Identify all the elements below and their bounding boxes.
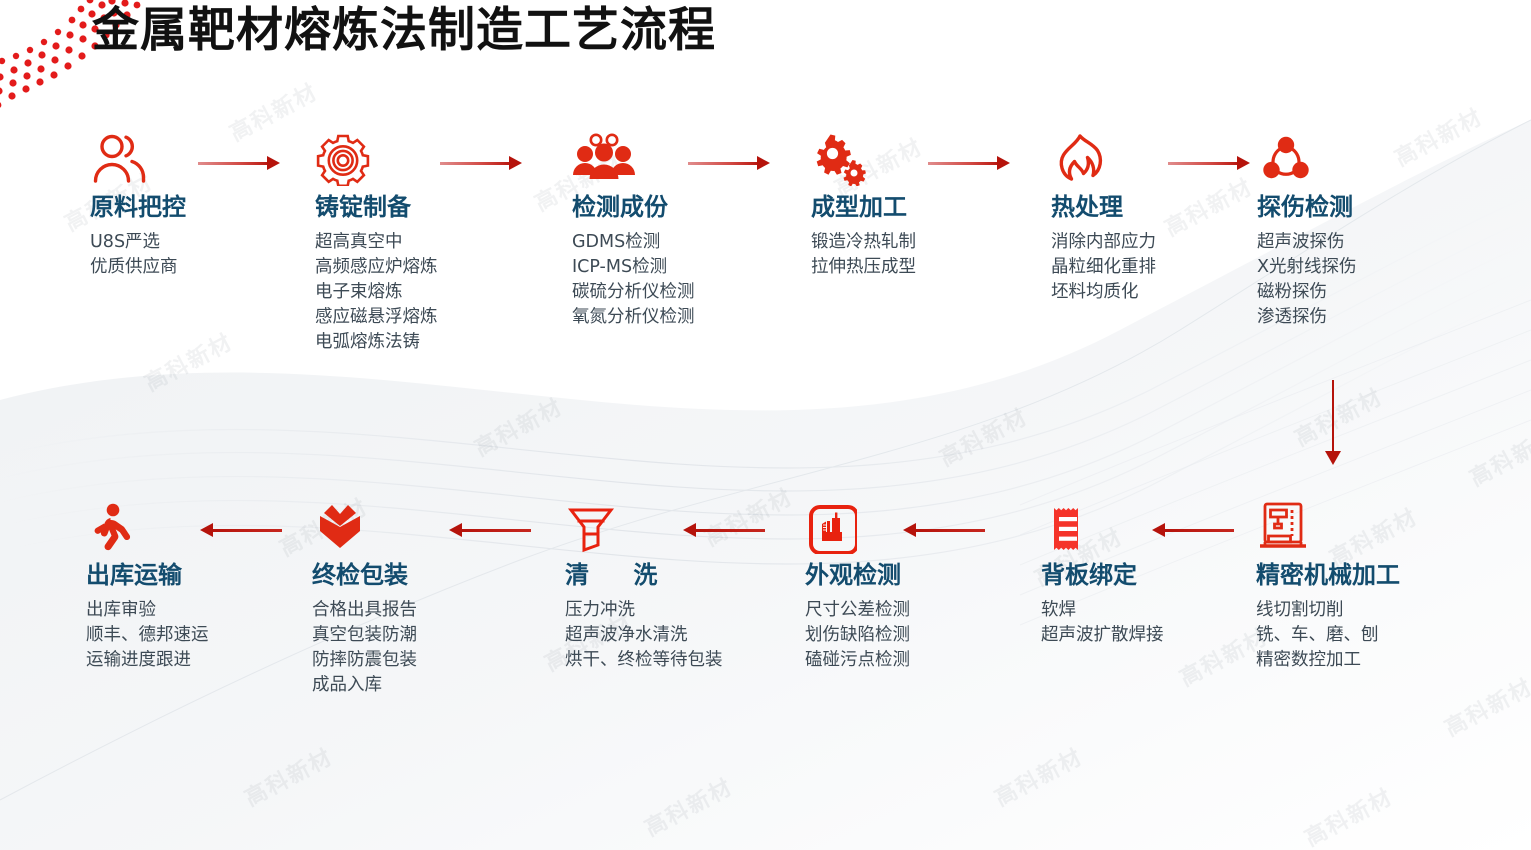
step-detail-line: 碳硫分析仪检测 [572, 280, 695, 305]
step-detail-line: 超声波净水清洗 [565, 623, 735, 648]
step-title: 外观检测 [805, 560, 910, 590]
step-title: 出库运输 [86, 560, 209, 590]
arrow-head [1237, 156, 1250, 170]
step-detail-line: 防摔防震包装 [312, 648, 417, 673]
arrow-head [997, 156, 1010, 170]
watermark: 高科新材 [223, 74, 323, 147]
flame-icon [1051, 130, 1156, 186]
step-detail-list: 尺寸公差检测 划伤缺陷检测 磕碰污点检测 [805, 598, 910, 673]
arrow-shaft [1332, 380, 1335, 451]
arrow-head [449, 523, 462, 537]
background-swoosh [0, 0, 1531, 850]
arrow-shaft [440, 162, 509, 165]
step-precision-machining[interactable]: 精密机械加工 线切割切削 铣、车、磨、刨 精密数控加工 [1256, 498, 1400, 673]
arrow-step7-to-step8 [1152, 524, 1234, 536]
arrow-head [757, 156, 770, 170]
step-detail-line: 渗透探伤 [1257, 305, 1357, 330]
step-ingot-preparation[interactable]: 铸锭制备 超高真空中 高频感应炉熔炼 电子束熔炼 感应磁悬浮熔炼 电弧熔炼法铸 [315, 130, 438, 355]
step-detail-line: 氧氮分析仪检测 [572, 305, 695, 330]
step-detail-line: 精密数控加工 [1256, 648, 1400, 673]
arrow-step3-to-step4 [688, 157, 770, 169]
step-detail-line: 尺寸公差检测 [805, 598, 910, 623]
step-detail-list: 压力冲洗 超声波净水清洗 烘干、终检等待包装 [565, 598, 735, 673]
step-detail-line: 感应磁悬浮熔炼 [315, 305, 438, 330]
step-title: 原料把控 [90, 192, 186, 222]
arrow-shaft [462, 529, 531, 532]
step-detail-list: GDMS检测 ICP-MS检测 碳硫分析仪检测 氧氮分析仪检测 [572, 230, 695, 330]
step-detail-line: 出库审验 [86, 598, 209, 623]
step-detail-line: 线切割切削 [1256, 598, 1400, 623]
step-detail-list: 超高真空中 高频感应炉熔炼 电子束熔炼 感应磁悬浮熔炼 电弧熔炼法铸 [315, 230, 438, 355]
arrow-shaft [198, 162, 267, 165]
step-title: 热处理 [1051, 192, 1156, 222]
two-people-icon [90, 130, 186, 186]
step-title: 背板绑定 [1041, 560, 1164, 590]
three-nodes-icon [1257, 130, 1357, 186]
arrow-step10-to-step11 [449, 524, 531, 536]
factory-badge-icon [805, 498, 910, 554]
step-detail-line: 坯料均质化 [1051, 280, 1156, 305]
arrow-step5-to-step6 [1168, 157, 1250, 169]
arrow-step1-to-step2 [198, 157, 280, 169]
step-detail-line: 优质供应商 [90, 255, 186, 280]
step-appearance-inspection[interactable]: 外观检测 尺寸公差检测 划伤缺陷检测 磕碰污点检测 [805, 498, 910, 673]
step-forming-processing[interactable]: 成型加工 锻造冷热轧制 拉伸热压成型 [811, 130, 916, 280]
arrow-shaft [688, 162, 757, 165]
walking-person-icon [86, 498, 209, 554]
cnc-machine-icon [1256, 498, 1400, 554]
step-detail-line: 磕碰污点检测 [805, 648, 910, 673]
receipt-icon [1041, 498, 1164, 554]
arrow-head [267, 156, 280, 170]
step-detail-line: 电弧熔炼法铸 [315, 330, 438, 355]
background-texture: 高科新材 高科新材 高科新材 高科新材 高科新材 高科新材 高科新材 高科新材 … [0, 0, 1531, 850]
watermark: 高科新材 [988, 739, 1088, 812]
arrow-step2-to-step3 [440, 157, 522, 169]
watermark: 高科新材 [1388, 99, 1488, 172]
step-detail-line: 软焊 [1041, 598, 1164, 623]
step-detail-line: 合格出具报告 [312, 598, 417, 623]
arrow-step4-to-step5 [928, 157, 1010, 169]
step-detail-list: 合格出具报告 真空包装防潮 防摔防震包装 成品入库 [312, 598, 417, 698]
watermark: 高科新材 [1158, 169, 1258, 242]
arrow-head [509, 156, 522, 170]
gear-icon [315, 130, 438, 186]
step-heat-treatment[interactable]: 热处理 消除内部应力 晶粒细化重排 坯料均质化 [1051, 130, 1156, 305]
step-detail-line: 超高真空中 [315, 230, 438, 255]
watermark: 高科新材 [933, 399, 1033, 472]
step-detail-line: 晶粒细化重排 [1051, 255, 1156, 280]
step-detail-line: U8S严选 [90, 230, 186, 255]
gears-icon [811, 130, 916, 186]
step-detail-line: 烘干、终检等待包装 [565, 648, 735, 673]
open-box-icon [312, 498, 417, 554]
step-title: 精密机械加工 [1256, 560, 1400, 590]
step-detail-line: 锻造冷热轧制 [811, 230, 916, 255]
step-detail-list: 超声波探伤 X光射线探伤 磁粉探伤 渗透探伤 [1257, 230, 1357, 330]
step-detail-list: 消除内部应力 晶粒细化重排 坯料均质化 [1051, 230, 1156, 305]
step-detail-list: 锻造冷热轧制 拉伸热压成型 [811, 230, 916, 280]
step-detail-line: 真空包装防潮 [312, 623, 417, 648]
step-detail-line: 高频感应炉熔炼 [315, 255, 438, 280]
step-flaw-detection[interactable]: 探伤检测 超声波探伤 X光射线探伤 磁粉探伤 渗透探伤 [1257, 130, 1357, 330]
step-title: 终检包装 [312, 560, 417, 590]
step-detail-line: 超声波扩散焊接 [1041, 623, 1164, 648]
arrow-shaft [1165, 529, 1234, 532]
step-detail-list: 线切割切削 铣、车、磨、刨 精密数控加工 [1256, 598, 1400, 673]
step-cleaning[interactable]: 清 洗 压力冲洗 超声波净水清洗 烘干、终检等待包装 [565, 498, 735, 673]
step-detail-list: 软焊 超声波扩散焊接 [1041, 598, 1164, 648]
step-detail-line: 顺丰、德邦速运 [86, 623, 209, 648]
step-title: 成型加工 [811, 192, 916, 222]
watermark: 高科新材 [638, 769, 738, 842]
people-group-icon [572, 130, 695, 186]
page-title: 金属靶材熔炼法制造工艺流程 [92, 1, 716, 61]
step-detail-line: 电子束熔炼 [315, 280, 438, 305]
watermark: 高科新材 [468, 389, 568, 462]
watermark: 高科新材 [238, 739, 338, 812]
arrow-shaft [928, 162, 997, 165]
step-detail-line: 磁粉探伤 [1257, 280, 1357, 305]
step-composition-testing[interactable]: 检测成份 GDMS检测 ICP-MS检测 碳硫分析仪检测 氧氮分析仪检测 [572, 130, 695, 330]
step-detail-line: 压力冲洗 [565, 598, 735, 623]
step-detail-line: X光射线探伤 [1257, 255, 1357, 280]
step-detail-line: 划伤缺陷检测 [805, 623, 910, 648]
arrow-shaft [916, 529, 985, 532]
step-detail-line: ICP-MS检测 [572, 255, 695, 280]
funnel-icon [565, 498, 735, 554]
arrow-shaft [1168, 162, 1237, 165]
watermark: 高科新材 [1463, 419, 1531, 492]
step-detail-line: 成品入库 [312, 673, 417, 698]
step-detail-line: 拉伸热压成型 [811, 255, 916, 280]
step-title: 探伤检测 [1257, 192, 1357, 222]
step-detail-line: 运输进度跟进 [86, 648, 209, 673]
watermark: 高科新材 [1438, 669, 1531, 742]
arrow-step11-to-step12 [200, 524, 282, 536]
watermark: 高科新材 [138, 324, 238, 397]
step-title: 清 洗 [565, 560, 735, 590]
arrow-step6-to-step7 [1326, 380, 1340, 465]
step-final-inspection-packaging[interactable]: 终检包装 合格出具报告 真空包装防潮 防摔防震包装 成品入库 [312, 498, 417, 698]
step-detail-line: 超声波探伤 [1257, 230, 1357, 255]
arrow-shaft [213, 529, 282, 532]
step-title: 检测成份 [572, 192, 695, 222]
step-detail-list: 出库审验 顺丰、德邦速运 运输进度跟进 [86, 598, 209, 673]
step-title: 铸锭制备 [315, 192, 438, 222]
step-raw-material-control[interactable]: 原料把控 U8S严选 优质供应商 [90, 130, 186, 280]
step-detail-line: 消除内部应力 [1051, 230, 1156, 255]
watermark: 高科新材 [1298, 779, 1398, 850]
step-detail-line: GDMS检测 [572, 230, 695, 255]
step-outbound-shipping[interactable]: 出库运输 出库审验 顺丰、德邦速运 运输进度跟进 [86, 498, 209, 673]
arrow-step8-to-step9 [903, 524, 985, 536]
step-detail-list: U8S严选 优质供应商 [90, 230, 186, 280]
step-detail-line: 铣、车、磨、刨 [1256, 623, 1400, 648]
arrow-head [1325, 451, 1341, 465]
step-backplate-bonding[interactable]: 背板绑定 软焊 超声波扩散焊接 [1041, 498, 1164, 648]
